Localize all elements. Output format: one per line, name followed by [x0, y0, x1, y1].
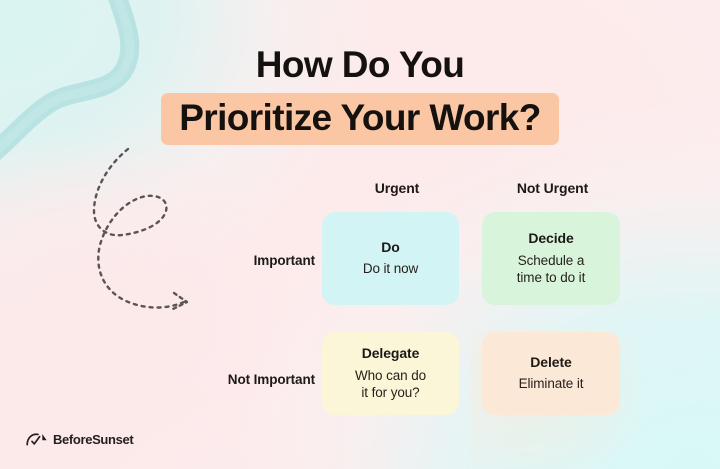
column-header-not-urgent: Not Urgent	[475, 180, 630, 196]
eisenhower-matrix: Urgent Not Urgent Important Not Importan…	[200, 180, 630, 430]
swoosh-check-icon	[26, 432, 48, 447]
matrix-cell-decide[interactable]: Decide Schedule a time to do it	[482, 212, 620, 305]
column-header-urgent: Urgent	[322, 180, 472, 196]
matrix-cell-delegate[interactable]: Delegate Who can do it for you?	[322, 332, 459, 415]
brand-logo[interactable]: BeforeSunset	[26, 432, 133, 447]
cell-subtitle-line-2: time to do it	[517, 270, 585, 285]
matrix-cell-do[interactable]: Do Do it now	[322, 212, 459, 305]
cell-subtitle: Do it now	[363, 260, 418, 278]
row-label-not-important: Not Important	[200, 372, 315, 387]
title-line-1: How Do You	[0, 44, 720, 85]
cell-subtitle: Eliminate it	[519, 375, 584, 393]
matrix-cell-delete[interactable]: Delete Eliminate it	[482, 332, 620, 415]
cell-title: Do	[381, 239, 399, 257]
poster-canvas: How Do You Prioritize Your Work? Urgent …	[0, 0, 720, 469]
title-line-2-wrapper: Prioritize Your Work?	[0, 93, 720, 144]
cell-title: Decide	[528, 230, 573, 248]
cell-title: Delegate	[362, 345, 420, 363]
title-line-2-highlighted: Prioritize Your Work?	[161, 93, 559, 144]
row-label-important: Important	[200, 253, 315, 268]
cell-subtitle-line-1: Who can do	[355, 368, 426, 383]
cell-title: Delete	[530, 354, 571, 372]
cell-subtitle: Who can do it for you?	[355, 367, 426, 402]
cell-subtitle-line-2: it for you?	[361, 385, 419, 400]
cell-subtitle: Schedule a time to do it	[517, 252, 585, 287]
cell-subtitle-line-1: Schedule a	[518, 253, 585, 268]
page-title: How Do You Prioritize Your Work?	[0, 44, 720, 145]
brand-name: BeforeSunset	[53, 433, 133, 446]
